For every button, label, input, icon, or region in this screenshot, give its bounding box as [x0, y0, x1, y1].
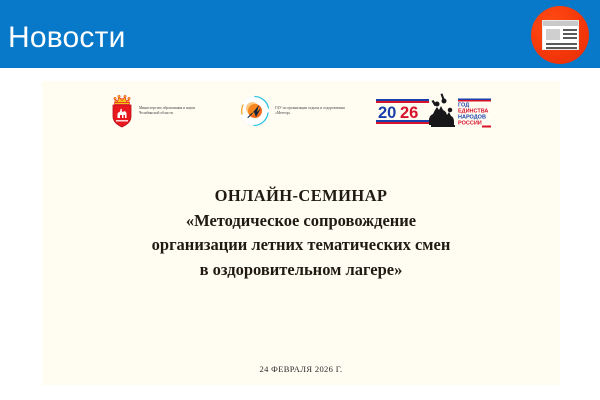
news-glyph-line [563, 37, 577, 39]
news-glyph-line [546, 43, 577, 45]
seminar-date: 24 ФЕВРАЛЯ 2026 Г. [42, 363, 560, 375]
announcement-slide: Министерство образования и науки Челябин… [42, 81, 560, 385]
news-glyph-line [546, 47, 577, 49]
logo-meteor-center: ГАУ по организации отдыха и оздоровления… [239, 95, 349, 127]
news-article-glyph [542, 20, 579, 50]
logo-ministry-of-education: Министерство образования и науки Челябин… [109, 94, 213, 128]
seminar-title-line: ОНЛАЙН-СЕМИНАР [66, 184, 536, 209]
meteor-center-emblem-icon [239, 95, 271, 127]
svg-text:20: 20 [378, 104, 396, 122]
logo-caption-meteor: ГАУ по организации отдыха и оздоровления… [275, 106, 349, 116]
chelyabinsk-region-coat-of-arms-icon [109, 94, 135, 128]
seminar-title: ОНЛАЙН-СЕМИНАР «Методическое сопровожден… [66, 184, 536, 282]
news-glyph-thumbnail [546, 29, 560, 40]
page-title: Новости [8, 21, 126, 55]
svg-text:26: 26 [400, 104, 418, 122]
svg-text:НАРОДОВ: НАРОДОВ [458, 115, 486, 121]
news-glyph-topbar [543, 21, 578, 26]
svg-text:РОССИИ: РОССИИ [458, 121, 482, 127]
logo-strip: Министерство образования и науки Челябин… [42, 88, 560, 134]
svg-text:ЕДИНСТВА: ЕДИНСТВА [458, 109, 488, 115]
news-glyph-line [563, 29, 577, 31]
year-of-unity-2026-icon: 20 26 ГОД ЕДИНСТВА НАРОДОВ РО [375, 90, 493, 132]
news-glyph-line [563, 33, 577, 35]
svg-text:ГОД: ГОД [458, 103, 469, 109]
page-header-bar: Новости [0, 0, 600, 68]
seminar-title-line: «Методическое сопровождение [66, 209, 536, 234]
seminar-title-line: в оздоровительном лагере» [66, 258, 536, 283]
seminar-title-line: организации летних тематических смен [66, 233, 536, 258]
logo-caption-ministry: Министерство образования и науки Челябин… [139, 106, 213, 116]
news-article-icon[interactable] [531, 6, 589, 64]
